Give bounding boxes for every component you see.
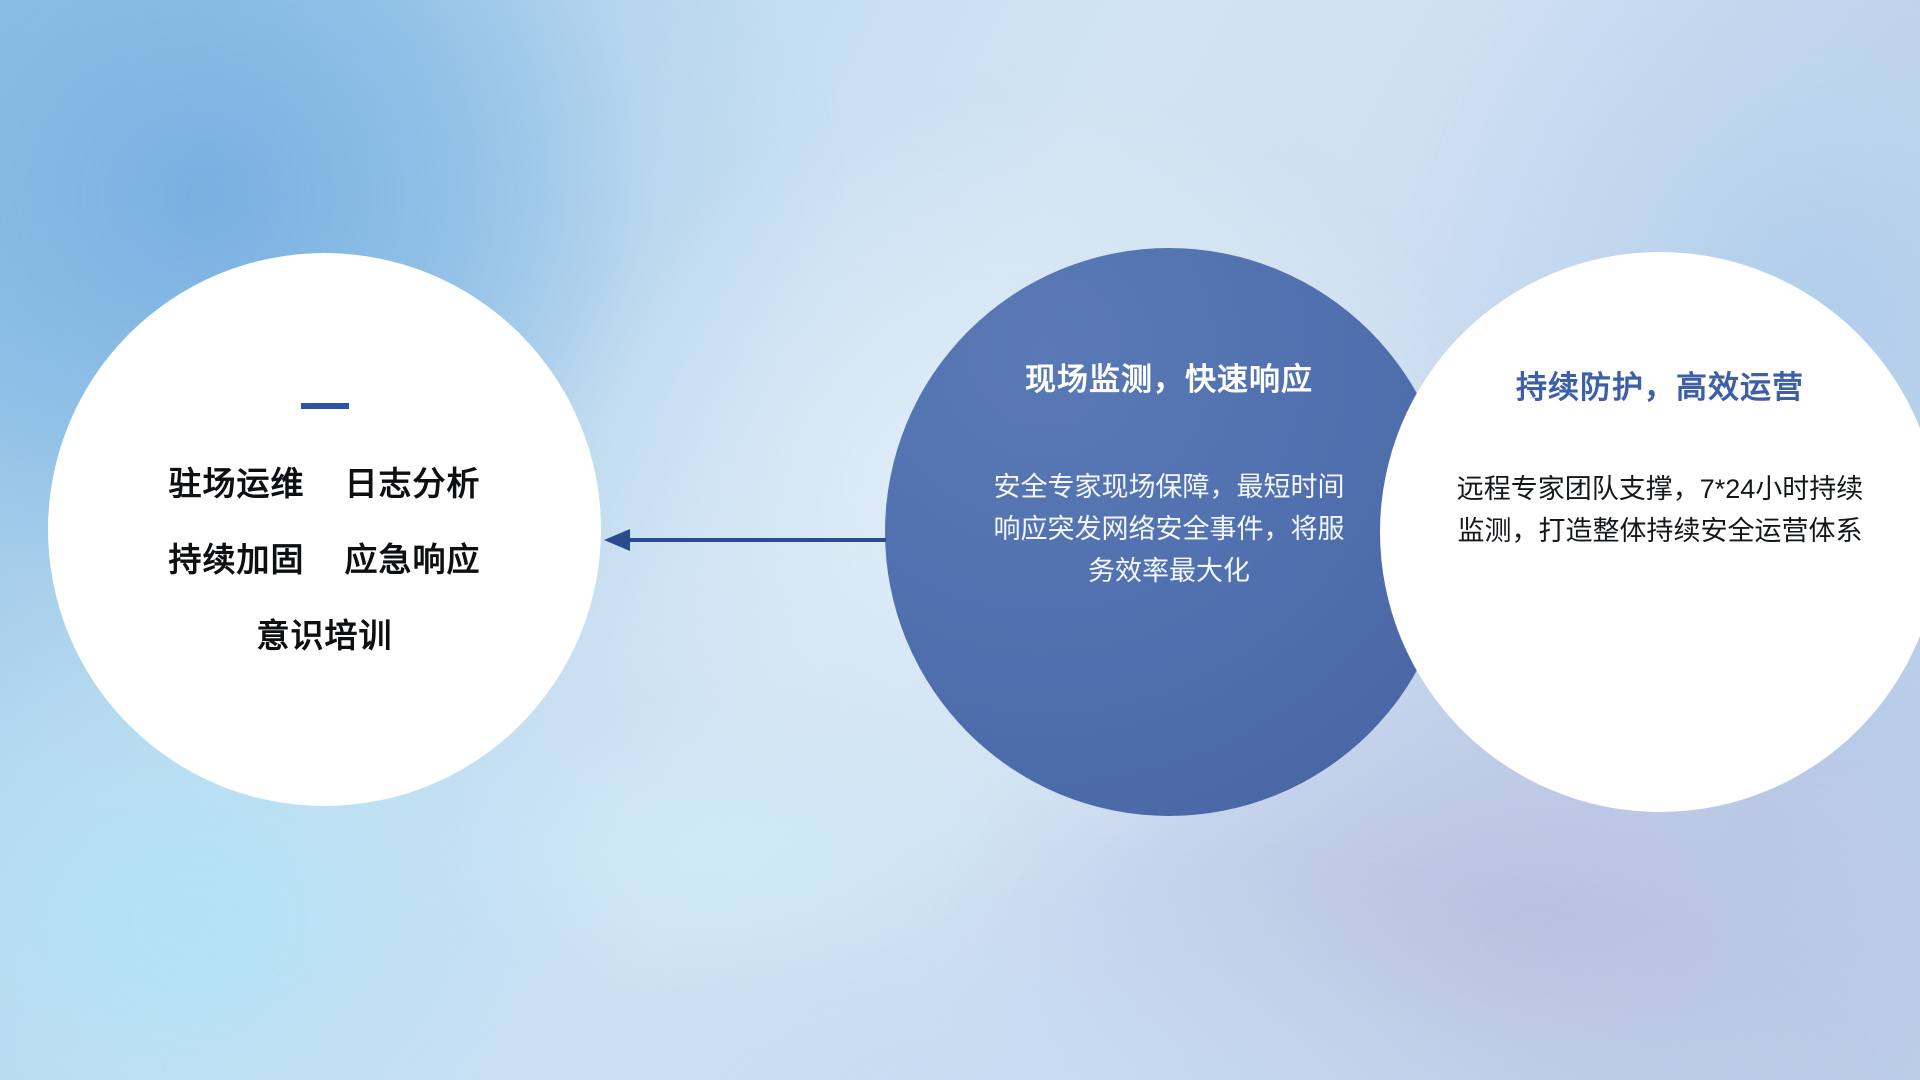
onsite-monitoring-body: 安全专家现场保障，最短时间响应突发网络安全事件，将服务效率最大化 — [989, 467, 1349, 593]
capability-item: 应急响应 — [345, 533, 481, 581]
onsite-monitoring-circle[interactable]: 现场监测，快速响应 安全专家现场保障，最短时间响应突发网络安全事件，将服务效率最… — [885, 248, 1453, 816]
diagram-stage: 驻场运维 日志分析 持续加固 应急响应 意识培训 现场监测，快速响应 安全专家现… — [0, 0, 1920, 1080]
arrow-left-icon — [600, 525, 890, 555]
accent-divider-dash — [301, 403, 349, 409]
capability-list: 驻场运维 日志分析 持续加固 应急响应 意识培训 — [169, 457, 481, 657]
capability-row: 意识培训 — [257, 609, 393, 657]
capability-row: 持续加固 应急响应 — [169, 533, 481, 581]
capability-item: 日志分析 — [345, 457, 481, 505]
continuous-protection-title: 持续防护，高效运营 — [1516, 362, 1804, 407]
onsite-monitoring-title: 现场监测，快速响应 — [1025, 354, 1313, 399]
continuous-protection-body: 远程专家团队支撑，7*24小时持续监测，打造整体持续安全运营体系 — [1450, 469, 1870, 553]
capability-item: 意识培训 — [257, 609, 393, 657]
capability-row: 驻场运维 日志分析 — [169, 457, 481, 505]
capabilities-circle[interactable]: 驻场运维 日志分析 持续加固 应急响应 意识培训 — [48, 253, 601, 806]
capability-item: 驻场运维 — [169, 457, 305, 505]
continuous-protection-circle[interactable]: 持续防护，高效运营 远程专家团队支撑，7*24小时持续监测，打造整体持续安全运营… — [1380, 252, 1920, 812]
capability-item: 持续加固 — [169, 533, 305, 581]
